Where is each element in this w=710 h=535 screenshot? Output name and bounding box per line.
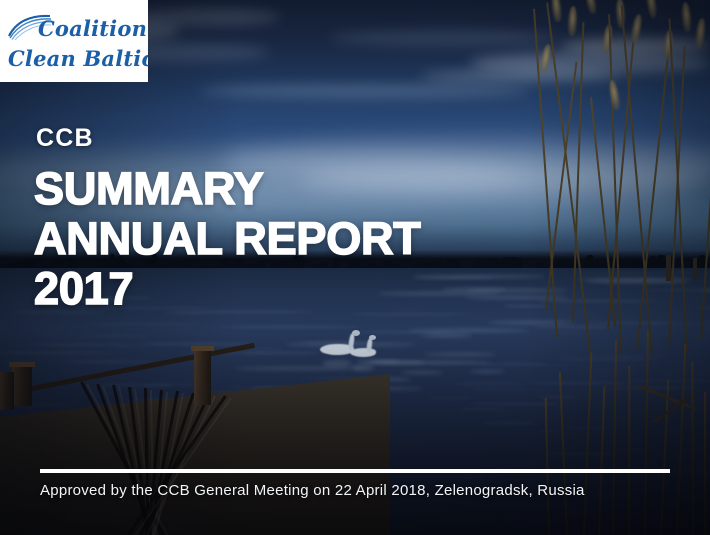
title-line-1: SUMMARY — [34, 164, 674, 214]
page-title: SUMMARY ANNUAL REPORT 2017 — [34, 164, 674, 314]
title-line-2: ANNUAL REPORT — [34, 214, 674, 264]
logo-line-1: Coalition — [38, 16, 147, 41]
footer-divider — [40, 469, 670, 473]
report-cover-page: Coalition Clean Baltic CCB SUMMARY ANNUA… — [0, 0, 710, 535]
ccb-logo: Coalition Clean Baltic — [0, 0, 148, 82]
logo-line-2: Clean Baltic — [8, 46, 148, 71]
organisation-acronym: CCB — [36, 124, 94, 153]
title-line-3: 2017 — [34, 264, 674, 314]
approval-caption: Approved by the CCB General Meeting on 2… — [40, 482, 680, 499]
